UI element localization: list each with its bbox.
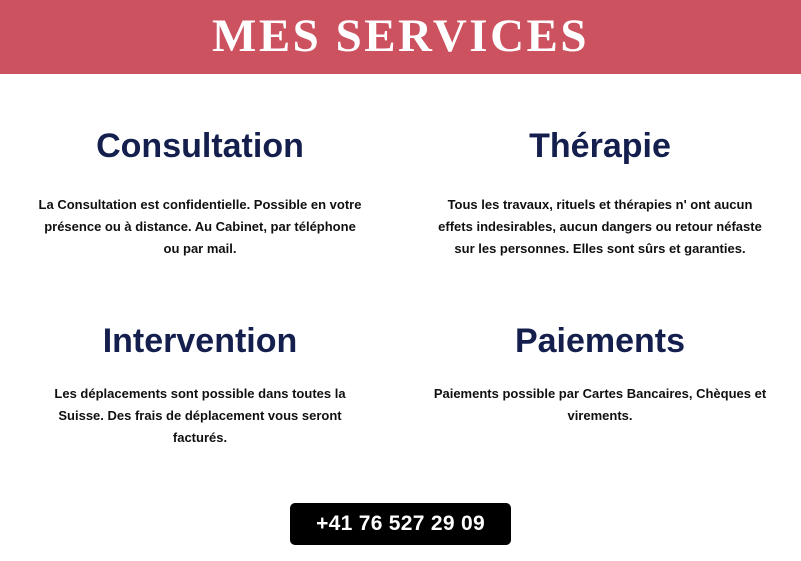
service-text-consultation: La Consultation est confidentielle. Poss… — [35, 194, 365, 260]
page-title: MES SERVICES — [212, 13, 589, 62]
services-grid: Consultation La Consultation est confide… — [0, 74, 801, 489]
service-card-paiements: Paiements Paiements possible par Cartes … — [400, 309, 800, 489]
service-heading-consultation: Consultation — [10, 126, 390, 166]
service-text-therapie: Tous les travaux, rituels et thérapies n… — [430, 194, 770, 260]
service-heading-intervention: Intervention — [10, 321, 390, 361]
phone-call-button[interactable]: +41 76 527 29 09 — [290, 503, 511, 545]
service-text-intervention: Les déplacements sont possible dans tout… — [35, 383, 365, 449]
service-text-paiements: Paiements possible par Cartes Bancaires,… — [430, 383, 770, 427]
phone-bar: +41 76 527 29 09 — [0, 503, 801, 545]
service-heading-paiements: Paiements — [410, 321, 790, 361]
service-heading-therapie: Thérapie — [410, 126, 790, 166]
page-header: MES SERVICES — [0, 0, 801, 74]
service-card-therapie: Thérapie Tous les travaux, rituels et th… — [400, 74, 800, 309]
service-card-consultation: Consultation La Consultation est confide… — [0, 74, 400, 309]
service-card-intervention: Intervention Les déplacements sont possi… — [0, 309, 400, 489]
